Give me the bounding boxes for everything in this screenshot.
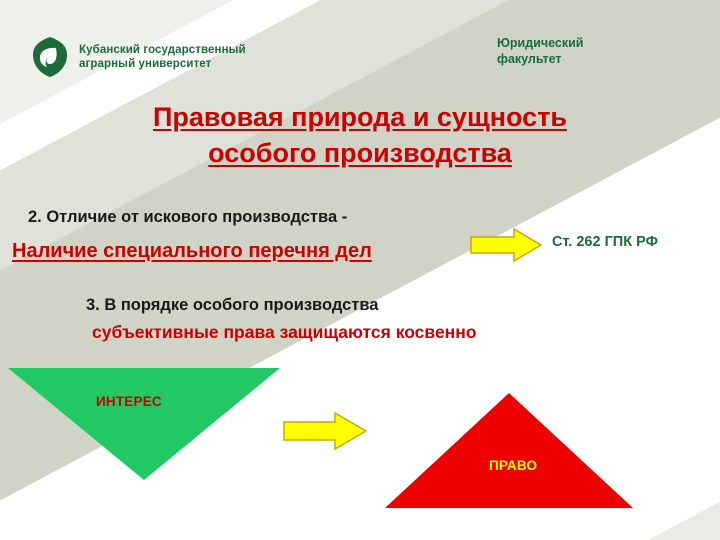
- point-3-label: 3. В порядке особого производства: [86, 296, 378, 315]
- point-2-emphasis: Наличие специального перечня дел: [12, 240, 372, 263]
- page-title-line2: особого производства: [208, 138, 512, 168]
- right-arrow-icon-2: [283, 412, 367, 455]
- faculty-name: Юридический факультет: [497, 36, 583, 67]
- red-triangle-shape: [385, 393, 633, 513]
- point-3-emphasis: субъективные права защищаются косвенно: [92, 322, 477, 343]
- university-logo-block: Кубанский государственный аграрный униве…: [30, 36, 246, 78]
- slide: Кубанский государственный аграрный униве…: [0, 0, 720, 540]
- green-triangle-shape: [8, 368, 280, 485]
- university-name-line2: аграрный университет: [79, 58, 211, 70]
- leaf-shield-logo-icon: [30, 36, 70, 78]
- university-name-line1: Кубанский государственный: [79, 44, 246, 56]
- page-title-line1: Правовая природа и сущность: [153, 102, 567, 132]
- legal-reference: Ст. 262 ГПК РФ: [552, 234, 658, 250]
- green-triangle-label: ИНТЕРЕС: [96, 394, 162, 409]
- university-name: Кубанский государственный аграрный униве…: [79, 43, 246, 72]
- slide-header: Кубанский государственный аграрный униве…: [0, 0, 720, 95]
- right-arrow-icon: [470, 228, 542, 267]
- point-2-label: 2. Отличие от искового производства -: [28, 208, 347, 227]
- page-title: Правовая природа и сущность особого прои…: [0, 100, 720, 171]
- faculty-name-line2: факультет: [497, 52, 562, 66]
- faculty-name-line1: Юридический: [497, 36, 583, 50]
- red-triangle-label: ПРАВО: [489, 458, 537, 473]
